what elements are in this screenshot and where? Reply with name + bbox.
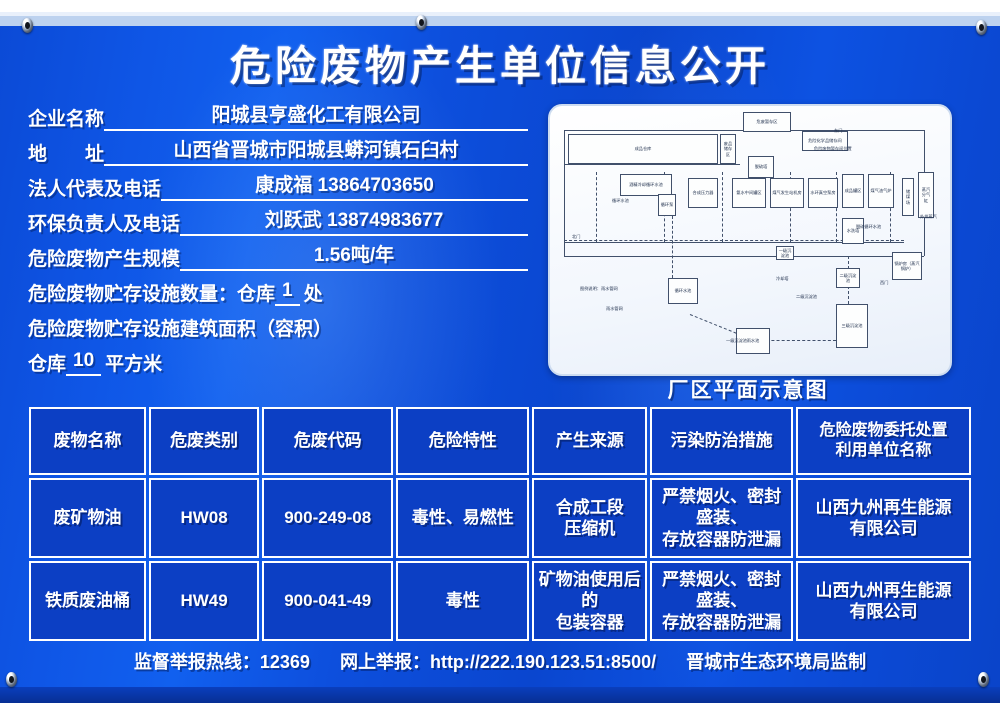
diagram-label: 一级沉淀池	[726, 338, 747, 344]
information-board: 危险废物产生单位信息公开 企业名称 阳城县亨盛化工有限公司 地 址 山西省晋城市…	[0, 0, 1000, 703]
cell-hazard-characteristic: 毒性、易燃性	[396, 478, 529, 558]
info-row-waste-scale: 危险废物产生规模 1.56吨/年	[28, 236, 528, 271]
diagram-label: 冷却塔	[776, 276, 789, 282]
label-storage-area: 危险废物贮存设施建筑面积（容积）	[28, 314, 332, 341]
info-row-storage-area-label: 危险废物贮存设施建筑面积（容积）	[28, 306, 528, 341]
hazardous-waste-table: 废物名称 危废类别 危废代码 危险特性 产生来源 污染防治措施 危险废物委托处置…	[26, 404, 974, 644]
cell-measure-line1: 严禁烟火、密封盛装、	[654, 569, 789, 612]
diagram-label: 外排蒸汽	[920, 214, 937, 220]
value-waste-scale: 1.56吨/年	[180, 240, 528, 271]
cell-measure-line1: 严禁烟火、密封盛装、	[654, 486, 789, 529]
value-address: 山西省晋城市阳城县蟒河镇石臼村	[104, 135, 528, 166]
diagram-box: 储煤场	[902, 178, 914, 216]
cell-disposal-unit: 山西九州再生能源 有限公司	[796, 478, 971, 558]
diagram-box: 合成压力器	[688, 178, 718, 208]
diagram-box: 酒精冷却循环水池	[620, 174, 672, 196]
label-address: 地 址	[28, 139, 104, 166]
cell-waste-name: 铁质废油桶	[29, 561, 146, 641]
header-waste-code: 危废代码	[262, 407, 393, 475]
cell-unit-line2: 有限公司	[800, 601, 967, 622]
cell-pollution-measures: 严禁烟火、密封盛装、 存放容器防泄漏	[650, 478, 793, 558]
diagram-box: 废品储存区	[720, 134, 736, 164]
diagram-border-bottom	[564, 256, 924, 257]
bolt-top-left	[22, 18, 33, 33]
diagram-box: 氨水中间罐区	[732, 178, 766, 208]
label-company-name: 企业名称	[28, 104, 104, 131]
diagram-dashed-diagonal	[690, 314, 737, 334]
info-row-warehouse-area: 仓库 10 平方米	[28, 341, 528, 376]
header-disposal-unit-line1: 危险废物委托处置	[800, 421, 967, 441]
cell-pollution-measures: 严禁烟火、密封盛装、 存放容器防泄漏	[650, 561, 793, 641]
header-disposal-unit-line2: 利用单位名称	[800, 441, 967, 461]
info-row-env-officer: 环保负责人及电话 刘跃武 13874983677	[28, 201, 528, 236]
diagram-caption: 厂区平面示意图	[548, 374, 948, 404]
label-storage-count: 危险废物贮存设施数量：仓库	[28, 279, 275, 306]
label-waste-scale: 危险废物产生规模	[28, 244, 180, 271]
cell-source-line1: 合成工段	[536, 497, 643, 518]
page-title: 危险废物产生单位信息公开	[0, 32, 1000, 92]
cell-waste-category: HW49	[149, 561, 259, 641]
info-row-company-name: 企业名称 阳城县亨盛化工有限公司	[28, 96, 528, 131]
cell-unit-line1: 山西九州再生能源	[800, 580, 967, 601]
value-storage-count: 1	[275, 280, 300, 306]
table-header-row: 废物名称 危废类别 危废代码 危险特性 产生来源 污染防治措施 危险废物委托处置…	[29, 407, 971, 475]
diagram-label: 脱硫循环水池	[856, 224, 881, 230]
cell-generation-source: 合成工段 压缩机	[532, 478, 647, 558]
table-row: 废矿物油 HW08 900-249-08 毒性、易燃性 合成工段 压缩机 严禁烟…	[29, 478, 971, 558]
diagram-inner-line	[564, 164, 740, 165]
diagram-dashed-3	[722, 172, 723, 242]
footer-authority: 晋城市生态环境局监制	[686, 648, 866, 674]
label-legal-rep: 法人代表及电话	[28, 174, 161, 201]
header-pollution-measures: 污染防治措施	[650, 407, 793, 475]
diagram-label: 危险废物暂存间位置	[814, 146, 852, 152]
header-generation-source: 产生来源	[532, 407, 647, 475]
diagram-dashed-pool-feed	[672, 216, 673, 278]
unit-storage-count: 处	[300, 279, 323, 306]
value-legal-rep: 康成福 13864703650	[161, 170, 528, 201]
diagram-label: 北门	[572, 234, 580, 240]
diagram-label: 西门	[880, 280, 888, 286]
cell-disposal-unit: 山西九州再生能源 有限公司	[796, 561, 971, 641]
diagram-box: 危废暂存区	[743, 112, 791, 132]
factory-layout-diagram: ★ 成品仓库废品储存区危废暂存区危险化学品储存间酒精冷却循环水池合成压力器氨水中…	[548, 104, 952, 376]
value-company-name: 阳城县亨盛化工有限公司	[104, 100, 528, 131]
diagram-box: 成品罐区	[842, 174, 864, 208]
diagram-box: 一级沉淀池	[776, 246, 794, 260]
bolt-bottom-right	[978, 672, 989, 687]
bolt-bottom-left	[6, 672, 17, 687]
diagram-box: 脱硫塔	[748, 156, 774, 178]
cell-hazard-characteristic: 毒性	[396, 561, 529, 641]
company-info-section: 企业名称 阳城县亨盛化工有限公司 地 址 山西省晋城市阳城县蟒河镇石臼村 法人代…	[28, 96, 528, 376]
info-row-storage-count: 危险废物贮存设施数量：仓库 1 处	[28, 271, 528, 306]
diagram-box: 成品仓库	[568, 134, 718, 164]
cell-waste-category: HW08	[149, 478, 259, 558]
bolt-top-right	[976, 20, 987, 35]
info-row-legal-rep: 法人代表及电话 康成福 13864703650	[28, 166, 528, 201]
diagram-box: 水洗塔	[842, 218, 864, 244]
diagram-box: 循环水池	[668, 278, 698, 304]
diagram-label: 图例说明：雨水管网	[580, 286, 618, 292]
diagram-label: 二级沉淀池	[796, 294, 817, 300]
header-hazard-characteristic: 危险特性	[396, 407, 529, 475]
header-waste-name: 废物名称	[29, 407, 146, 475]
diagram-box: 二级沉淀池	[836, 268, 860, 288]
diagram-border-left	[564, 130, 565, 256]
diagram-label: 雨水管网	[606, 306, 623, 312]
diagram-box: 煤气发生站机房	[770, 178, 804, 208]
footer-bar: 监督举报热线：12369 网上举报：http://222.190.123.51:…	[0, 648, 1000, 674]
cell-waste-code: 900-249-08	[262, 478, 393, 558]
cell-generation-source: 矿物油使用后的 包装容器	[532, 561, 647, 641]
label-env-officer: 环保负责人及电话	[28, 209, 180, 236]
cell-unit-line1: 山西九州再生能源	[800, 497, 967, 518]
unit-warehouse-area: 平方米	[101, 349, 162, 376]
diagram-box: 锅炉房（蒸汽锅炉）	[892, 252, 922, 280]
cell-unit-line2: 有限公司	[800, 518, 967, 539]
cell-source-line2: 包装容器	[536, 612, 643, 633]
header-disposal-unit: 危险废物委托处置 利用单位名称	[796, 407, 971, 475]
bolt-top-center	[416, 15, 427, 30]
diagram-box: 循环泵	[658, 194, 676, 216]
diagram-dashed-1	[596, 172, 597, 242]
cell-waste-code: 900-041-49	[262, 561, 393, 641]
cell-source-line1: 矿物油使用后的	[536, 569, 643, 612]
cell-measure-line2: 存放容器防泄漏	[654, 612, 789, 633]
footer-hotline: 监督举报热线：12369	[134, 648, 310, 674]
table-row: 铁质废油桶 HW49 900-041-49 毒性 矿物油使用后的 包装容器 严禁…	[29, 561, 971, 641]
cell-waste-name: 废矿物油	[29, 478, 146, 558]
value-env-officer: 刘跃武 13874983677	[180, 205, 528, 236]
diagram-box: 蒸汽分气缸	[918, 172, 934, 218]
info-row-address: 地 址 山西省晋城市阳城县蟒河镇石臼村	[28, 131, 528, 166]
header-waste-category: 危废类别	[149, 407, 259, 475]
footer-online-report: 网上举报：http://222.190.123.51:8500/	[340, 648, 656, 674]
diagram-label: 循环水池	[612, 198, 629, 204]
cell-source-line2: 压缩机	[536, 518, 643, 539]
cell-measure-line2: 存放容器防泄漏	[654, 529, 789, 550]
value-warehouse-area: 10	[66, 350, 101, 376]
diagram-box: 水环真空泵房	[808, 178, 838, 208]
diagram-label: 东门	[834, 128, 842, 134]
diagram-box: 煤气油气炉	[868, 174, 894, 208]
diagram-box: 三级沉淀池	[836, 304, 868, 348]
label-warehouse: 仓库	[28, 349, 66, 376]
